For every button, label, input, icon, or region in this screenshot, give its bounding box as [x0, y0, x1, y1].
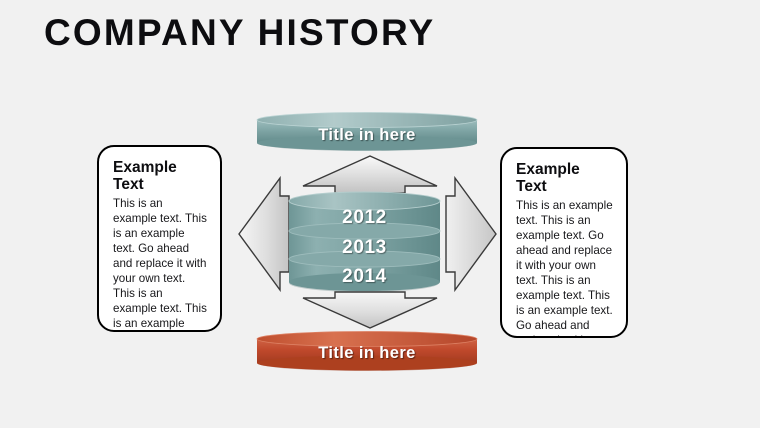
bottom-title-bar-shape [256, 330, 478, 372]
slide-canvas: COMPANY HISTORY Title in her [0, 0, 760, 428]
top-title-bar-shape [256, 112, 478, 152]
arrow-right-icon [443, 175, 499, 298]
top-title-bar[interactable]: Title in here [256, 112, 478, 157]
year-stack[interactable]: 2012 2013 2014 [287, 190, 442, 292]
arrow-left-icon [236, 175, 292, 298]
bottom-title-bar[interactable]: Title in here [256, 330, 478, 377]
left-text-box-heading: Example Text [113, 159, 207, 194]
right-text-box-heading: Example Text [516, 161, 613, 196]
right-text-box-body: This is an example text. This is an exam… [516, 198, 613, 338]
left-text-box-body: This is an example text. This is an exam… [113, 196, 207, 332]
right-text-box[interactable]: Example Text This is an example text. Th… [500, 147, 628, 338]
left-text-box[interactable]: Example Text This is an example text. Th… [97, 145, 222, 332]
year-stack-shape [287, 190, 442, 292]
page-title: COMPANY HISTORY [44, 12, 435, 54]
